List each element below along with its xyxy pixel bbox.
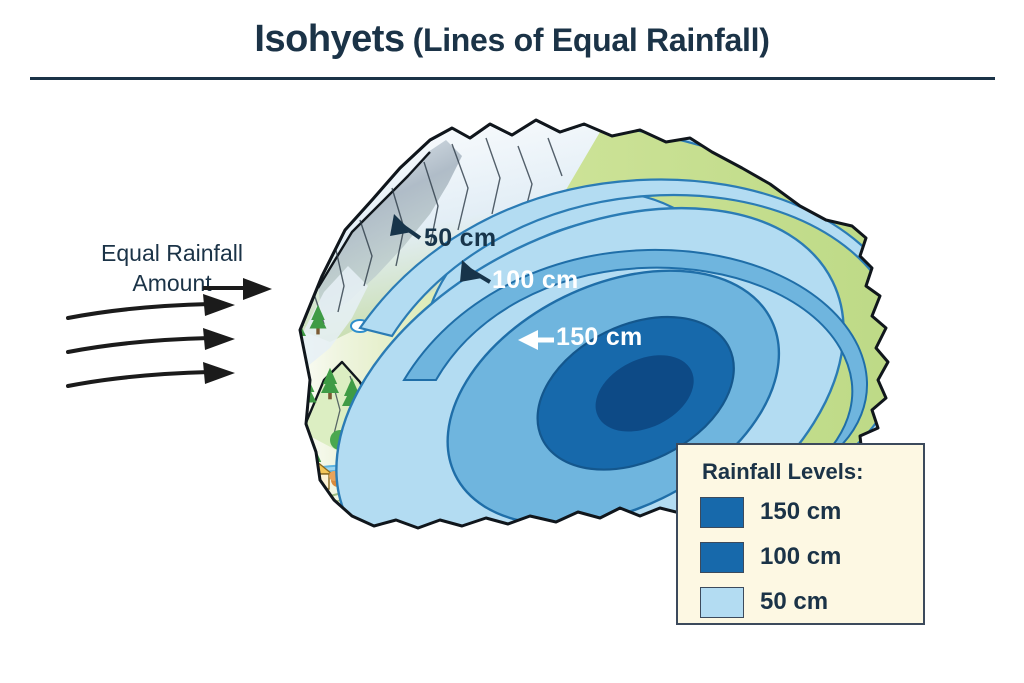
legend-item-100: 100 cm xyxy=(700,540,841,574)
title-main-text: Isohyets xyxy=(254,18,404,60)
legend-title: Rainfall Levels: xyxy=(702,459,863,485)
legend-swatch-100 xyxy=(700,542,744,573)
contour-label-150: 150 cm xyxy=(556,323,643,352)
page-title: Isohyets(Lines of Equal Rainfall) xyxy=(0,18,1024,61)
legend-item-50: 50 cm xyxy=(700,585,828,619)
contour-label-100: 100 cm xyxy=(492,266,579,295)
legend-label-50: 50 cm xyxy=(760,588,828,616)
legend-swatch-150 xyxy=(700,497,744,528)
river-delta xyxy=(330,510,474,640)
legend-label-100: 100 cm xyxy=(760,543,841,571)
title-subtitle-text: (Lines of Equal Rainfall) xyxy=(413,22,770,58)
contour-label-50: 50 cm xyxy=(424,224,496,253)
legend-item-150: 150 cm xyxy=(700,495,841,529)
legend-label-150: 150 cm xyxy=(760,498,841,526)
map-legend: Rainfall Levels: 150 cm 100 cm 50 cm xyxy=(676,443,925,625)
legend-swatch-50 xyxy=(700,587,744,618)
